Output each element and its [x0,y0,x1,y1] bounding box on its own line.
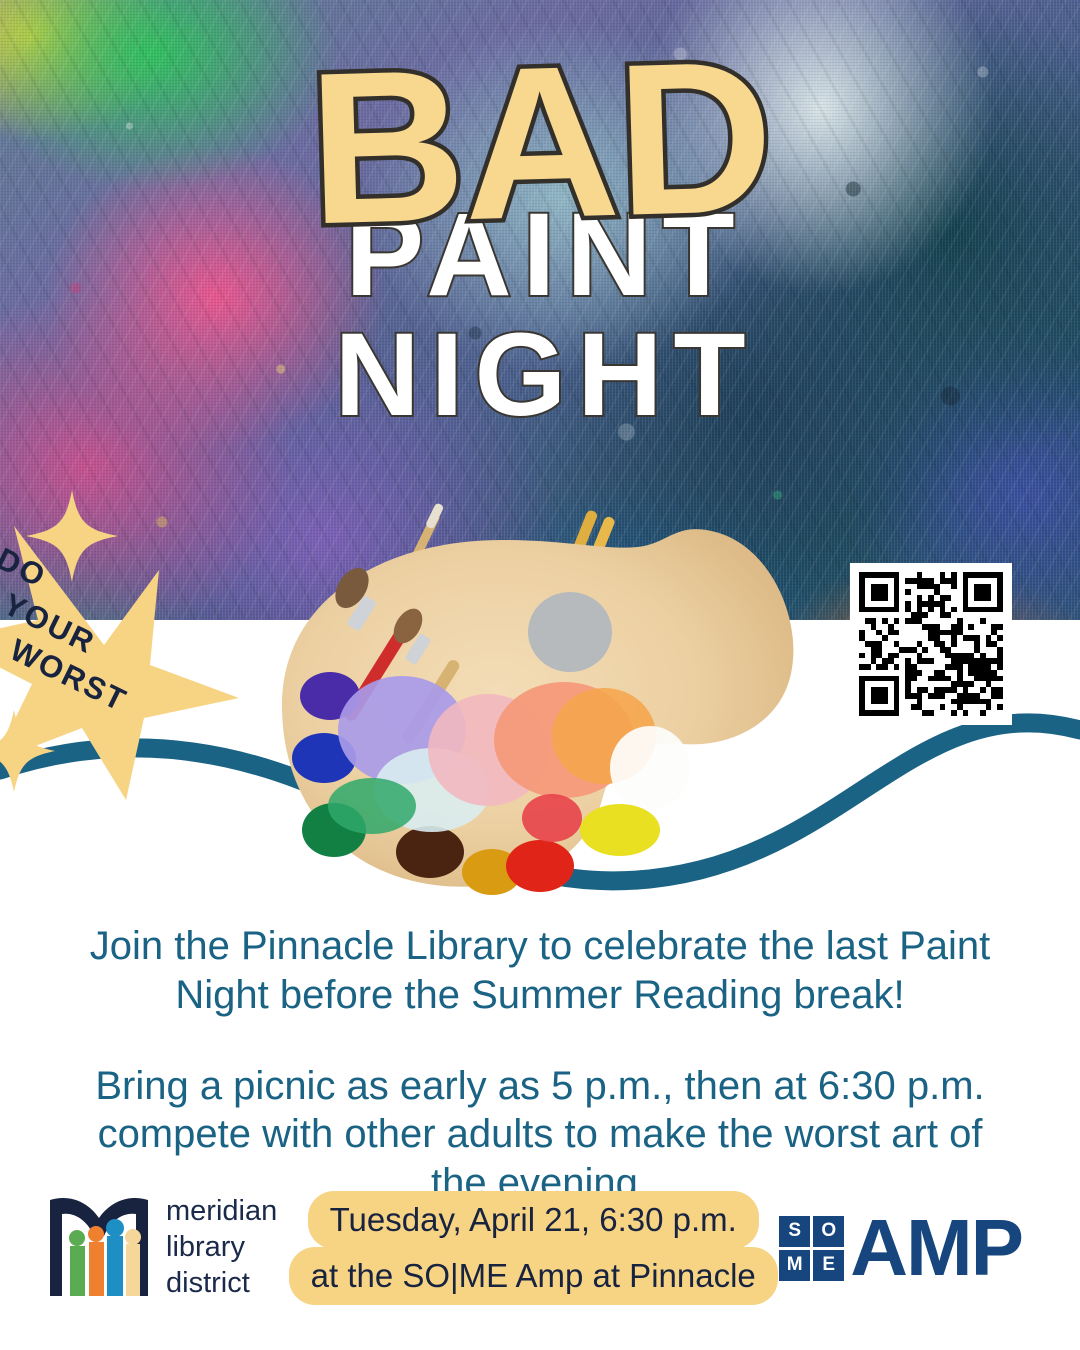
meridian-library-district-logo: meridian library district [40,1192,277,1304]
library-m-icon [40,1192,158,1304]
logo-word-meridian: meridian [166,1194,277,1230]
palette-thumb-hole [528,592,612,672]
logo-word-library: library [166,1230,277,1266]
poster-title-block: BAD PAINT NIGHT [0,52,1080,432]
some-letter-m: M [779,1250,810,1281]
poster-footer: meridian library district Tuesday, April… [0,1178,1080,1318]
event-datetime-badge: Tuesday, April 21, 6:30 p.m. at the SO|M… [289,1191,778,1305]
event-location-line: at the SO|ME Amp at Pinnacle [289,1247,778,1305]
some-letter-grid: S O M E [779,1216,844,1281]
body-copy: Join the Pinnacle Library to celebrate t… [70,922,1010,1208]
event-date-line: Tuesday, April 21, 6:30 p.m. [308,1191,759,1249]
star-badge-icon: DO YOUR WORST [0,470,254,800]
title-night: NIGHT [0,319,1080,432]
event-poster: BAD PAINT NIGHT DO YOUR WORST [0,0,1080,1350]
qr-code-icon[interactable] [850,563,1012,725]
logo-word-district: district [166,1266,277,1302]
paint-blobs [292,672,690,895]
body-paragraph-1: Join the Pinnacle Library to celebrate t… [70,922,1010,1020]
amp-wordmark: AMP [850,1212,1022,1284]
library-logo-wordmark: meridian library district [166,1194,277,1302]
some-letter-s: S [779,1216,810,1247]
some-letter-e: E [813,1250,844,1281]
paint-palette-icon [252,500,812,920]
some-letter-o: O [813,1216,844,1247]
some-amp-logo: S O M E AMP [779,1212,1022,1284]
qr-code-modules [859,572,1003,716]
title-bad: BAD [0,37,1080,249]
